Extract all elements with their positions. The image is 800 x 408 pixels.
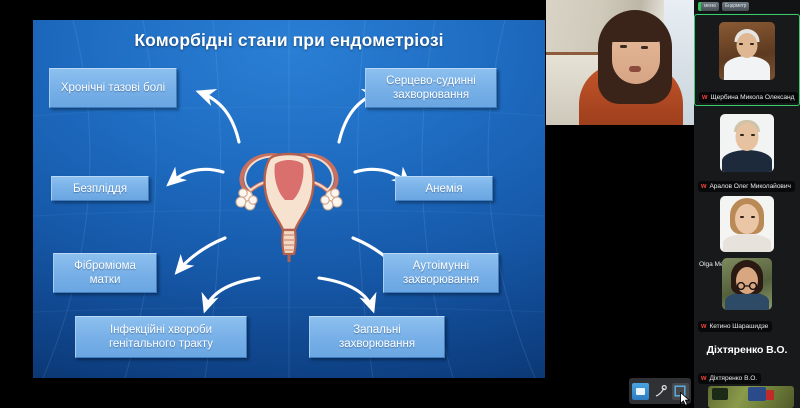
slide-box-cardiovascular: Серцево-судинні захворювання xyxy=(365,68,497,108)
participant-4-namebar: w Кетино Шарашидзе xyxy=(698,321,772,332)
share-screen-icon[interactable] xyxy=(632,383,649,400)
shared-screen-area[interactable]: Коморбідні стани при ендометріозі xyxy=(0,0,694,408)
participant-tile-6-partial[interactable] xyxy=(694,386,800,408)
rail-topbar[interactable]: меню Ендометр xyxy=(694,0,800,13)
participant-tile-4[interactable]: w Кетино Шарашидзе xyxy=(694,252,800,334)
slide-box-inflammatory: Запальні захворювання xyxy=(309,316,445,358)
video-conference-screen: Коморбідні стани при ендометріозі xyxy=(0,0,800,408)
uterus-anatomy-illustration xyxy=(219,138,359,262)
participant-4-thumbnail xyxy=(722,258,772,310)
participant-6-shape-right xyxy=(766,390,774,400)
presentation-slide[interactable]: Коморбідні стани при ендометріозі xyxy=(33,20,545,378)
tab-endometriosis[interactable]: Ендометр xyxy=(722,2,749,11)
participant-2-face xyxy=(736,123,759,151)
muted-microphone-icon: w xyxy=(701,375,706,382)
participant-1-name: Щербина Микола Олександ xyxy=(710,93,794,102)
participant-2-eye-left xyxy=(740,134,744,136)
participant-2-thumbnail xyxy=(720,114,774,172)
participant-1-namebar: w Щербина Микола Олександ xyxy=(699,92,798,103)
tab-menu[interactable]: меню xyxy=(701,2,719,11)
participant-4-glasses-icon xyxy=(734,277,760,285)
presenter-webcam-feed[interactable] xyxy=(546,0,694,125)
participant-6-shape-left xyxy=(712,388,728,400)
participant-3-face xyxy=(735,204,759,234)
participant-2-name: Аралов Олег Миколайович xyxy=(709,182,790,191)
participant-1-coat xyxy=(724,56,770,80)
slide-box-anemia: Анемія xyxy=(395,176,493,201)
participant-2-eye-right xyxy=(751,134,755,136)
slide-box-uterine-fibroid: Фіброміома матки xyxy=(53,253,157,293)
participant-tile-5[interactable]: w Діхтяренко В.О. xyxy=(694,362,800,384)
spotlight-participant-name: Діхтяренко В.О. xyxy=(694,344,800,356)
participant-1-eye-left xyxy=(739,43,743,45)
slide-title: Коморбідні стани при ендометріозі xyxy=(33,30,545,51)
annotate-pointer-icon[interactable] xyxy=(652,383,669,400)
participant-tile-2[interactable]: w Аралов Олег Миколайович xyxy=(694,110,800,194)
slide-box-genital-infections: Інфекційні хвороби генітального тракту xyxy=(75,316,247,358)
muted-microphone-icon: w xyxy=(701,323,706,330)
participant-4-name: Кетино Шарашидзе xyxy=(709,322,768,331)
participant-6-thumbnail xyxy=(708,386,794,408)
participant-rail[interactable]: меню Ендометр w Щербина Микола Олександ xyxy=(694,0,800,408)
participant-1-thumbnail xyxy=(719,22,775,80)
participant-3-shoulders xyxy=(723,234,771,252)
presenter-eye-left xyxy=(620,45,627,48)
participant-6-shape-center xyxy=(748,387,766,401)
participant-4-shirt xyxy=(725,292,769,310)
slide-box-autoimmune: Аутоімунні захворювання xyxy=(383,253,499,293)
participant-5-namebar: w Діхтяренко В.О. xyxy=(698,373,761,384)
presenter-eye-right xyxy=(641,46,648,49)
muted-microphone-icon: w xyxy=(702,94,707,101)
participant-2-suit xyxy=(722,150,772,172)
mouse-cursor xyxy=(680,392,691,406)
slide-box-infertility: Безпліддя xyxy=(51,176,149,201)
participant-1-eye-right xyxy=(750,43,754,45)
participant-3-thumbnail xyxy=(720,196,774,252)
slide-box-pelvic-pain: Хронічні тазові болі xyxy=(49,68,177,108)
participant-1-face xyxy=(737,33,758,58)
presenter-fringe xyxy=(606,16,666,42)
participant-3-eye-left xyxy=(740,216,744,218)
participant-2-namebar: w Аралов Олег Миколайович xyxy=(698,181,795,192)
muted-microphone-icon: w xyxy=(701,183,706,190)
participant-5-name: Діхтяренко В.О. xyxy=(709,374,757,383)
presenter-mouth xyxy=(629,66,641,72)
participant-tile-1[interactable]: w Щербина Микола Олександ xyxy=(694,14,800,106)
participant-3-eye-right xyxy=(751,216,755,218)
